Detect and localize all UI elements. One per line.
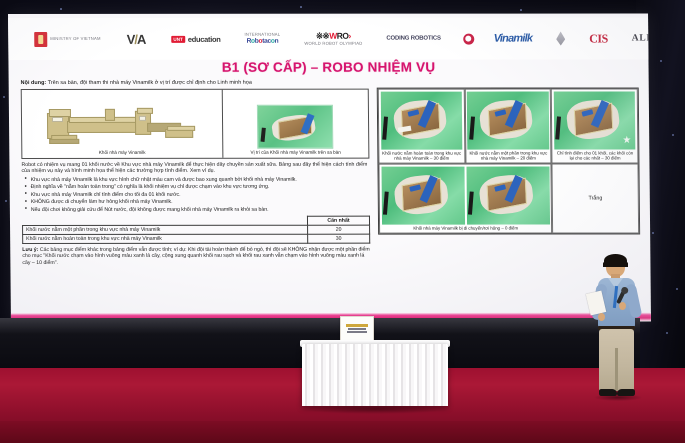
- presenter-right-hand: [619, 302, 626, 310]
- unt-badge: UNT: [171, 35, 185, 42]
- rule-bullet: KHÔNG được di chuyển làm hư hỏng khối nh…: [22, 199, 370, 206]
- cis-logo: CIS: [589, 31, 608, 46]
- ministry-emblem-icon: [34, 31, 47, 46]
- unt-education-logo: UNT education: [171, 34, 220, 43]
- robotacon-logo: INTERNATIONAL Robotacon: [244, 33, 280, 44]
- coding-logo-label: CODING ROBOTICS: [386, 36, 440, 42]
- figure-caption-field: Vị trí của Khối nhà máy Vinamilk trên sa…: [250, 149, 340, 155]
- luuy-note: Lưu ý: Các bảng mục điểm khác trong bảng…: [22, 246, 370, 267]
- alpha-school-logo-label: ALPHA SCHOOL: [632, 33, 651, 43]
- photo-cell-2: Khối nước nằm một phần trong khu vực nhà…: [464, 89, 551, 164]
- photo-cell-3-image: [554, 91, 636, 149]
- slide-title: B1 (SƠ CẤP) – ROBO NHIỆM VỤ: [8, 59, 648, 75]
- bokeh-sparkle: [520, 9, 522, 11]
- score-table: Căn nhất Khối nước nằm một phần trong kh…: [22, 215, 370, 243]
- flower-emblem-icon: [463, 33, 474, 44]
- photo-cell-4: Khối nhà máy Vinamilk bị di chuyển/rơi h…: [378, 164, 552, 234]
- draped-stage-table: [302, 330, 448, 410]
- slide-body: Nội dung: Trên sa bàn, đội tham thi nhà …: [21, 79, 641, 308]
- photo-cell-1-caption: Khối nước nằm hoàn toàn trong khu vực nh…: [381, 149, 463, 161]
- photo-cell-4-caption: Khối nhà máy Vinamilk bị di chuyển/rơi h…: [382, 224, 550, 231]
- rule-bullet: Khu vực nhà máy Vinamilk là khu vực hình…: [22, 176, 370, 183]
- score-row-label: Khối nước nằm hoàn toàn trong khu vực nh…: [23, 234, 308, 243]
- presenter-left-shoe: [599, 389, 617, 396]
- via-logo-label: V/A: [127, 31, 146, 46]
- ministry-logo-label: MINISTRY OF VIETNAM: [50, 37, 100, 41]
- wro-sub-label: WORLD ROBOT OLYMPIAD: [304, 42, 362, 46]
- presenter-trouser-seam: [615, 348, 618, 391]
- kite-logo: [556, 32, 565, 46]
- bokeh-sparkle: [652, 232, 654, 234]
- score-row-points: 20: [308, 225, 370, 234]
- ministry-logo: MINISTRY OF VIETNAM: [34, 31, 101, 46]
- photo-cell-2-caption: Khối nước nằm một phần trong khu vực nhà…: [467, 149, 549, 161]
- bokeh-sparkle: [60, 8, 62, 10]
- block-diagram-graphic: [47, 105, 197, 149]
- luuy-label: Lưu ý:: [22, 247, 38, 253]
- bokeh-sparkle: [672, 134, 674, 136]
- vinamilk-logo-label: Vinamilk: [494, 33, 533, 45]
- figure-field-photo: Vị trí của Khối nhà máy Vinamilk trên sa…: [222, 89, 368, 157]
- rule-bullet: Nếu đội chơi không giải cứu để Nút nước,…: [22, 207, 370, 214]
- noidung-line: Nội dung: Trên sa bàn, đội tham thi nhà …: [21, 80, 369, 87]
- bokeh-sparkle: [3, 96, 5, 98]
- bokeh-sparkle: [300, 6, 302, 8]
- scoring-photo-grid: Khối nước nằm hoàn toàn trong khu vực nh…: [377, 87, 640, 234]
- photo-cell-2-image: [467, 91, 549, 149]
- figure-block-diagram: Khối nhà máy Vinamilk: [22, 90, 223, 158]
- score-table-header-row: Căn nhất: [22, 216, 369, 225]
- score-table-row: Khối nước nằm một phần trong khu vực nhà…: [23, 225, 370, 234]
- photo-cell-4-images: [381, 166, 550, 224]
- conference-room-scene: MINISTRY OF VIETNAM V/A UNT education IN…: [0, 0, 685, 443]
- cis-logo-label: CIS: [589, 31, 608, 46]
- photo-cell-4-image-b: [466, 166, 550, 224]
- presenter-hair-front: [603, 260, 628, 267]
- photo-cell-3-caption: Chỉ tính điểm cho 01 khối, các khối còn …: [554, 149, 636, 161]
- rule-bullet: Khu vực nhà máy Vinamilk chỉ tính điểm c…: [22, 192, 370, 199]
- photo-cell-3: Chỉ tính điểm cho 01 khối, các khối còn …: [551, 88, 638, 163]
- bokeh-sparkle: [660, 60, 662, 62]
- score-row-label: Khối nước nằm một phần trong khu vực nhà…: [23, 225, 308, 234]
- presenter-right-shoe: [617, 389, 635, 396]
- luuy-text: Các bảng mục điểm khác trong bảng điểm v…: [22, 246, 369, 266]
- slide-surface: MINISTRY OF VIETNAM V/A UNT education IN…: [8, 13, 651, 322]
- photo-cell-blank-label: Trắng: [554, 166, 636, 231]
- score-row-points: 30: [308, 234, 370, 243]
- figure-caption-block: Khối nhà máy Vinamilk: [99, 149, 146, 155]
- bokeh-sparkle: [5, 200, 7, 202]
- presenter-left-hand: [598, 313, 605, 321]
- coding-logo: CODING ROBOTICS: [386, 36, 440, 42]
- field-photo-graphic: [257, 105, 333, 149]
- noidung-text: Trên sa bàn, đội tham thi nhà máy Vinami…: [48, 80, 252, 86]
- via-logo: V/A: [127, 31, 146, 46]
- score-table-row: Khối nước nằm hoàn toàn trong khu vực nh…: [23, 234, 370, 243]
- sponsor-logo-bar: MINISTRY OF VIETNAM V/A UNT education IN…: [8, 17, 648, 60]
- intro-paragraph: Robot có nhiệm vụ mang 01 khối nước về K…: [21, 161, 369, 174]
- unt-education-label: education: [188, 34, 221, 43]
- photo-cell-1-image: [380, 91, 462, 149]
- kite-emblem-icon: [556, 32, 565, 46]
- slide-left-column: Nội dung: Trên sa bàn, đội tham thi nhà …: [21, 80, 371, 308]
- score-table-header-points: Căn nhất: [307, 216, 369, 225]
- photo-cell-4-image-a: [381, 166, 465, 224]
- noidung-label: Nội dung:: [21, 80, 47, 86]
- flower-logo: [463, 33, 474, 44]
- photo-cell-1: Khối nước nằm hoàn toàn trong khu vực nh…: [378, 89, 465, 164]
- bokeh-sparkle: [676, 288, 678, 290]
- rule-bullet: Định nghĩa về "nằm hoàn toàn trong" có n…: [22, 184, 370, 191]
- wro-logo: ※※WRO› WORLD ROBOT OLYMPIAD: [304, 31, 362, 46]
- photo-cell-blank: Trắng: [552, 164, 639, 234]
- figure-row: Khối nhà máy Vinamilk Vị trí của Khối nh…: [21, 88, 370, 158]
- robotacon-logo-label: Robotacon: [247, 37, 279, 44]
- alpha-school-logo: ALPHA SCHOOL: [632, 33, 651, 43]
- vinamilk-logo: Vinamilk: [494, 33, 533, 45]
- table-name-card: [340, 316, 374, 341]
- presenter-on-stage: [586, 256, 648, 416]
- projection-screen: MINISTRY OF VIETNAM V/A UNT education IN…: [8, 13, 651, 322]
- stage-floor-edge: [0, 421, 685, 443]
- rules-bullet-list: Khu vực nhà máy Vinamilk là khu vực hình…: [22, 176, 370, 213]
- bokeh-sparkle: [666, 332, 668, 334]
- table-skirt: [302, 344, 448, 406]
